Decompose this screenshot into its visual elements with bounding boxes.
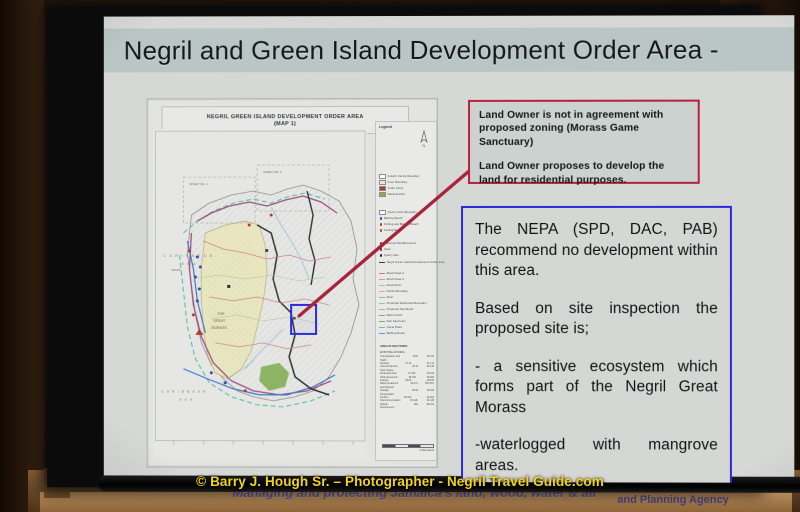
legend-label: Parish Boundary <box>387 290 408 293</box>
svg-text:S E A: S E A <box>181 262 196 266</box>
legend-dot <box>380 254 382 256</box>
blue-annotation-paragraph-4: -waterlogged with mangrove areas. <box>475 435 718 477</box>
legend-swatch <box>379 180 386 185</box>
legend-item: National Park <box>379 192 405 197</box>
svg-text:MORASS: MORASS <box>211 326 227 330</box>
legend-line <box>379 327 385 328</box>
blue-annotation-box: The NEPA (SPD, DAC, PAB) recommend no de… <box>461 206 732 483</box>
legend-line <box>379 273 385 274</box>
legend-label: Fish Sanctuary <box>387 320 406 323</box>
legend-label: Proposed New Road <box>387 308 413 311</box>
legend-label: Canal Road <box>387 326 402 329</box>
legend-label: Youth Camp <box>388 187 404 190</box>
nepa-agency-line2: and Planning Agency <box>598 494 748 506</box>
legend-table-row: Natural Development08108.161 <box>380 403 434 410</box>
row-value-2: 65.071A <box>418 382 434 389</box>
legend-item: Road Class A <box>379 272 404 275</box>
legend-label: Fishing and Bathing Beach <box>384 223 419 226</box>
legend-dot <box>380 248 382 250</box>
row-value-2: 48.186 <box>418 389 434 396</box>
legend-label: National Park <box>388 193 405 196</box>
legend-item: Marine Park <box>379 314 402 317</box>
legend-line <box>379 297 385 298</box>
projection-screen-frame: Negril and Green Island Development Orde… <box>47 5 759 489</box>
legend-label: Inner Boundary <box>388 181 408 184</box>
legend-label: Bathing Route <box>387 332 405 335</box>
row-value-2: 08.161 <box>418 403 434 410</box>
svg-text:GREAT: GREAT <box>213 319 226 323</box>
legend-line <box>379 309 385 310</box>
legend-dot <box>380 223 382 225</box>
red-annotation-paragraph-1: Land Owner is not in agreement with prop… <box>479 109 689 149</box>
svg-text:N: N <box>422 143 425 148</box>
legend-label: Protected Watershed Boundary <box>387 302 427 305</box>
row-name: Natural Development <box>380 403 402 410</box>
legend-item: Parish Boundary <box>379 290 408 293</box>
legend-item: Road Class C <box>379 278 404 281</box>
row-name: Transportation and Traffic <box>380 355 402 362</box>
legend-line <box>379 321 385 322</box>
legend-label: Road Class A <box>387 272 404 275</box>
legend-dot <box>380 217 382 219</box>
row-value-1: 06.53 <box>402 389 418 396</box>
map-graphic: SHEET NO. 1 SHEET NO. 2 C A R I B B E A … <box>154 129 367 459</box>
legend-item: Road Other <box>379 284 401 287</box>
legend-item: Canal Road <box>379 326 402 329</box>
legend-line <box>379 333 385 334</box>
legend-line <box>379 262 385 263</box>
legend-item: Bathing Beach <box>380 217 403 220</box>
page-title: Negril and Green Island Development Orde… <box>104 34 719 66</box>
legend-title: Legend <box>379 125 392 129</box>
legend-item: Negril Green Island Development Order Ar… <box>379 261 444 264</box>
wall-left <box>0 0 44 512</box>
legend-item: Protected Watershed Boundary <box>379 302 427 305</box>
legend-dot <box>380 242 382 244</box>
presentation-slide: Negril and Green Island Development Orde… <box>104 15 795 483</box>
legend-label: Historical Site/Monument <box>384 242 416 245</box>
legend-item: Quarry Zone Boundary <box>379 210 417 215</box>
svg-text:NEGRIL: NEGRIL <box>171 268 182 272</box>
scale-bar-graphic <box>382 444 434 448</box>
row-value-1: 39.12 <box>402 365 418 372</box>
legend-label: Quarry Site <box>384 254 399 257</box>
legend-label: River <box>387 296 394 299</box>
photographer-watermark: © Barry J. Hough Sr. – Photographer - Ne… <box>0 474 800 489</box>
red-annotation-box: Land Owner is not in agreement with prop… <box>468 100 700 184</box>
row-value-1: 081 <box>402 403 418 410</box>
legend-label: Cave <box>384 248 391 251</box>
legend-item: Fish Sanctuary <box>379 320 406 323</box>
highlighted-parcel-box <box>290 304 317 335</box>
row-value-2: 22.102 <box>418 355 434 362</box>
legend-swatch <box>379 174 386 179</box>
map-scale-bar: 4 Kilometers <box>382 444 434 452</box>
blue-annotation-paragraph-3: - a sensitive ecosystem which forms part… <box>475 357 718 419</box>
svg-text:C A R I B B E A N: C A R I B B E A N <box>164 254 214 258</box>
legend-item: River <box>379 296 393 299</box>
svg-text:SHEET NO. 2: SHEET NO. 2 <box>263 170 282 174</box>
legend-dot <box>380 229 382 231</box>
map-legend: Legend N Growth Centre Boundary Inner Bo… <box>375 121 437 461</box>
legend-line <box>379 303 385 304</box>
legend-item: Youth Camp <box>379 186 403 191</box>
row-value-1: 09.471 <box>402 382 418 389</box>
blue-annotation-paragraph-1: The NEPA (SPD, DAC, PAB) recommend no de… <box>475 220 718 282</box>
legend-item: Bathing Route <box>379 332 405 335</box>
row-name: Commercial and Open Space <box>380 365 402 372</box>
row-name: Sewage Conservation <box>380 389 402 396</box>
scale-bar-label: 4 Kilometers <box>382 449 434 452</box>
map-panel: NEGRIL GREEN ISLAND DEVELOPMENT ORDER AR… <box>147 98 438 468</box>
blue-annotation-paragraph-2: Based on site inspection the proposed si… <box>475 299 718 340</box>
svg-text:SHEET NO. 1: SHEET NO. 1 <box>189 182 208 186</box>
legend-item: Cave <box>380 248 391 251</box>
legend-line <box>379 315 385 316</box>
svg-text:THE: THE <box>217 312 225 316</box>
svg-text:C A R I B B E A N: C A R I B B E A N <box>162 390 207 394</box>
svg-text:S E A: S E A <box>179 398 193 402</box>
legend-swatch <box>379 210 386 215</box>
legend-label: Negril Green Island Development Order Ar… <box>387 261 445 264</box>
legend-label: Marine Park <box>387 314 403 317</box>
slide-title-band: Negril and Green Island Development Orde… <box>104 27 795 72</box>
legend-item: Fishing Beach <box>380 229 402 232</box>
row-name: Waste Treatment and Disposal <box>380 382 402 389</box>
legend-label: Fishing Beach <box>384 229 402 232</box>
legend-line <box>379 285 385 286</box>
legend-item: Quarry Site <box>380 254 399 257</box>
row-value-1: 2011 <box>402 355 418 362</box>
row-value-2: 28.146 <box>418 365 434 372</box>
legend-label: Road Class C <box>387 278 405 281</box>
legend-label: Road Other <box>387 284 402 287</box>
legend-line <box>379 279 385 280</box>
north-arrow-icon: N <box>418 130 430 148</box>
legend-swatch <box>379 192 386 197</box>
legend-item: Fishing and Bathing Beach <box>380 223 419 226</box>
legend-item: Inner Boundary <box>379 180 407 185</box>
red-annotation-paragraph-2: Land Owner proposes to develop the land … <box>479 160 689 187</box>
legend-label: Bathing Beach <box>384 217 403 220</box>
legend-item: Historical Site/Monument <box>380 242 416 245</box>
legend-table-subheading: EXISTING ZONING <box>380 350 434 354</box>
legend-swatch <box>379 186 386 191</box>
legend-label: Growth Centre Boundary <box>388 175 420 178</box>
legend-item: Growth Centre Boundary <box>379 174 420 179</box>
legend-table-heading: AREA IN HECTARES <box>380 344 434 348</box>
legend-item: Proposed New Road <box>379 308 413 311</box>
legend-label: Quarry Zone Boundary <box>388 211 417 214</box>
legend-line <box>379 291 385 292</box>
map-title-line1: NEGRIL GREEN ISLAND DEVELOPMENT ORDER AR… <box>207 114 364 120</box>
legend-statistics-table: AREA IN HECTARES EXISTING ZONING Transpo… <box>380 344 434 410</box>
map-title-line2: (MAP 1) <box>274 121 296 127</box>
